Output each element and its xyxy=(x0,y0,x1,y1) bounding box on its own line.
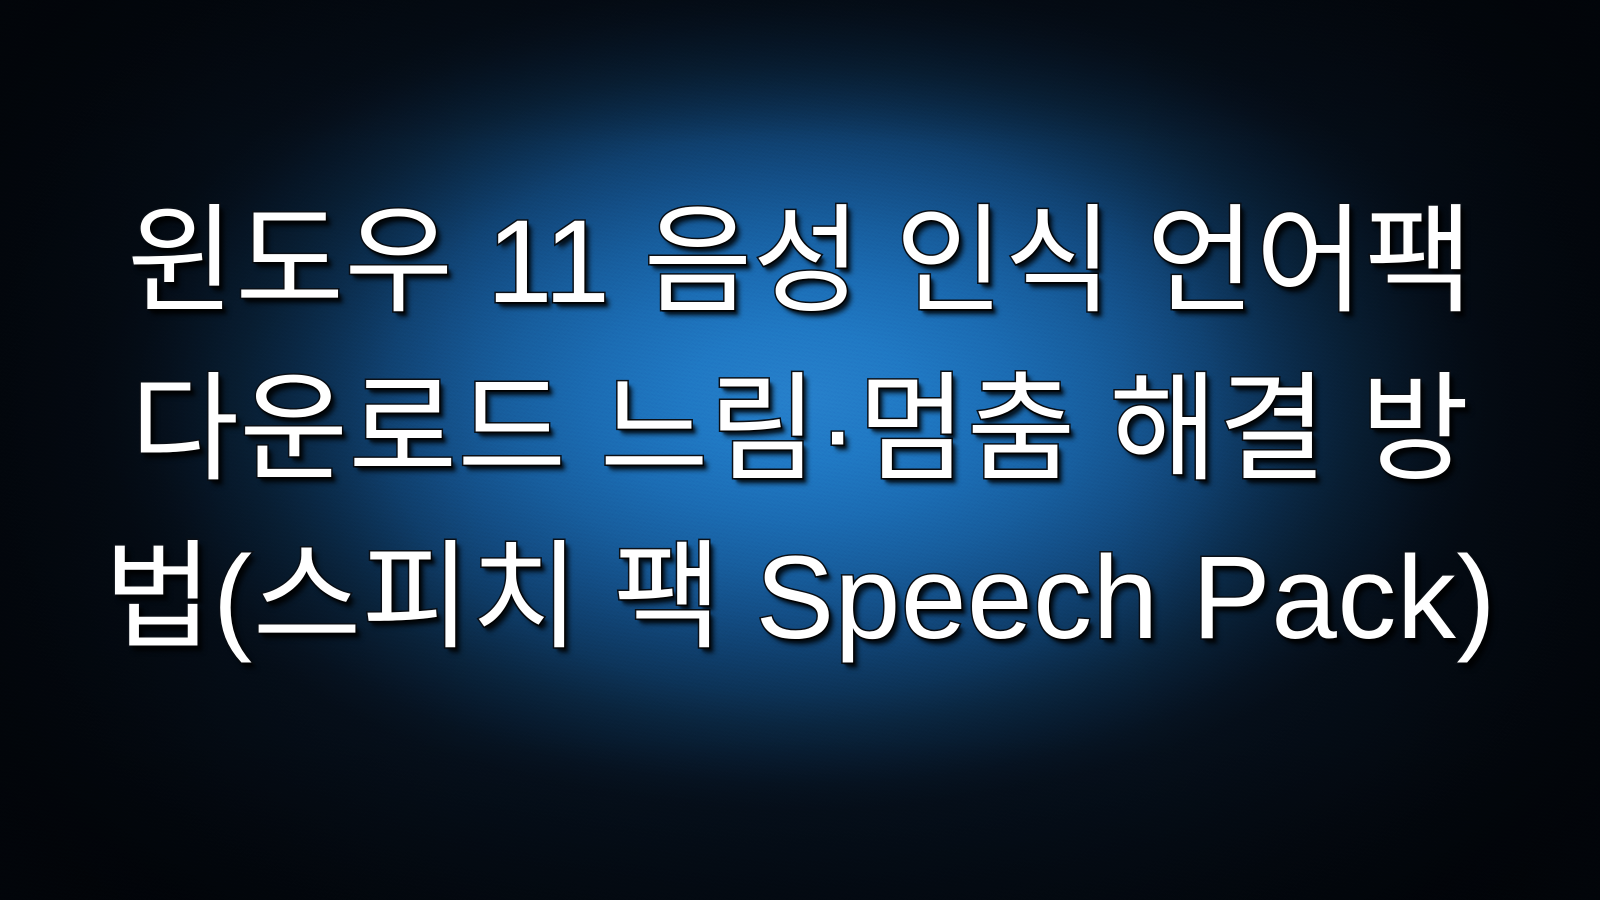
title-line-2: 다운로드 느림·멈춤 해결 방 xyxy=(44,346,1556,514)
title-line-1: 윈도우 11 음성 인식 언어팩 xyxy=(44,178,1556,346)
title-block: 윈도우 11 음성 인식 언어팩 다운로드 느림·멈춤 해결 방 법(스피치 팩… xyxy=(0,178,1600,682)
title-line-3: 법(스피치 팩 Speech Pack) xyxy=(44,514,1556,682)
thumbnail-canvas: 윈도우 11 음성 인식 언어팩 다운로드 느림·멈춤 해결 방 법(스피치 팩… xyxy=(0,0,1600,900)
